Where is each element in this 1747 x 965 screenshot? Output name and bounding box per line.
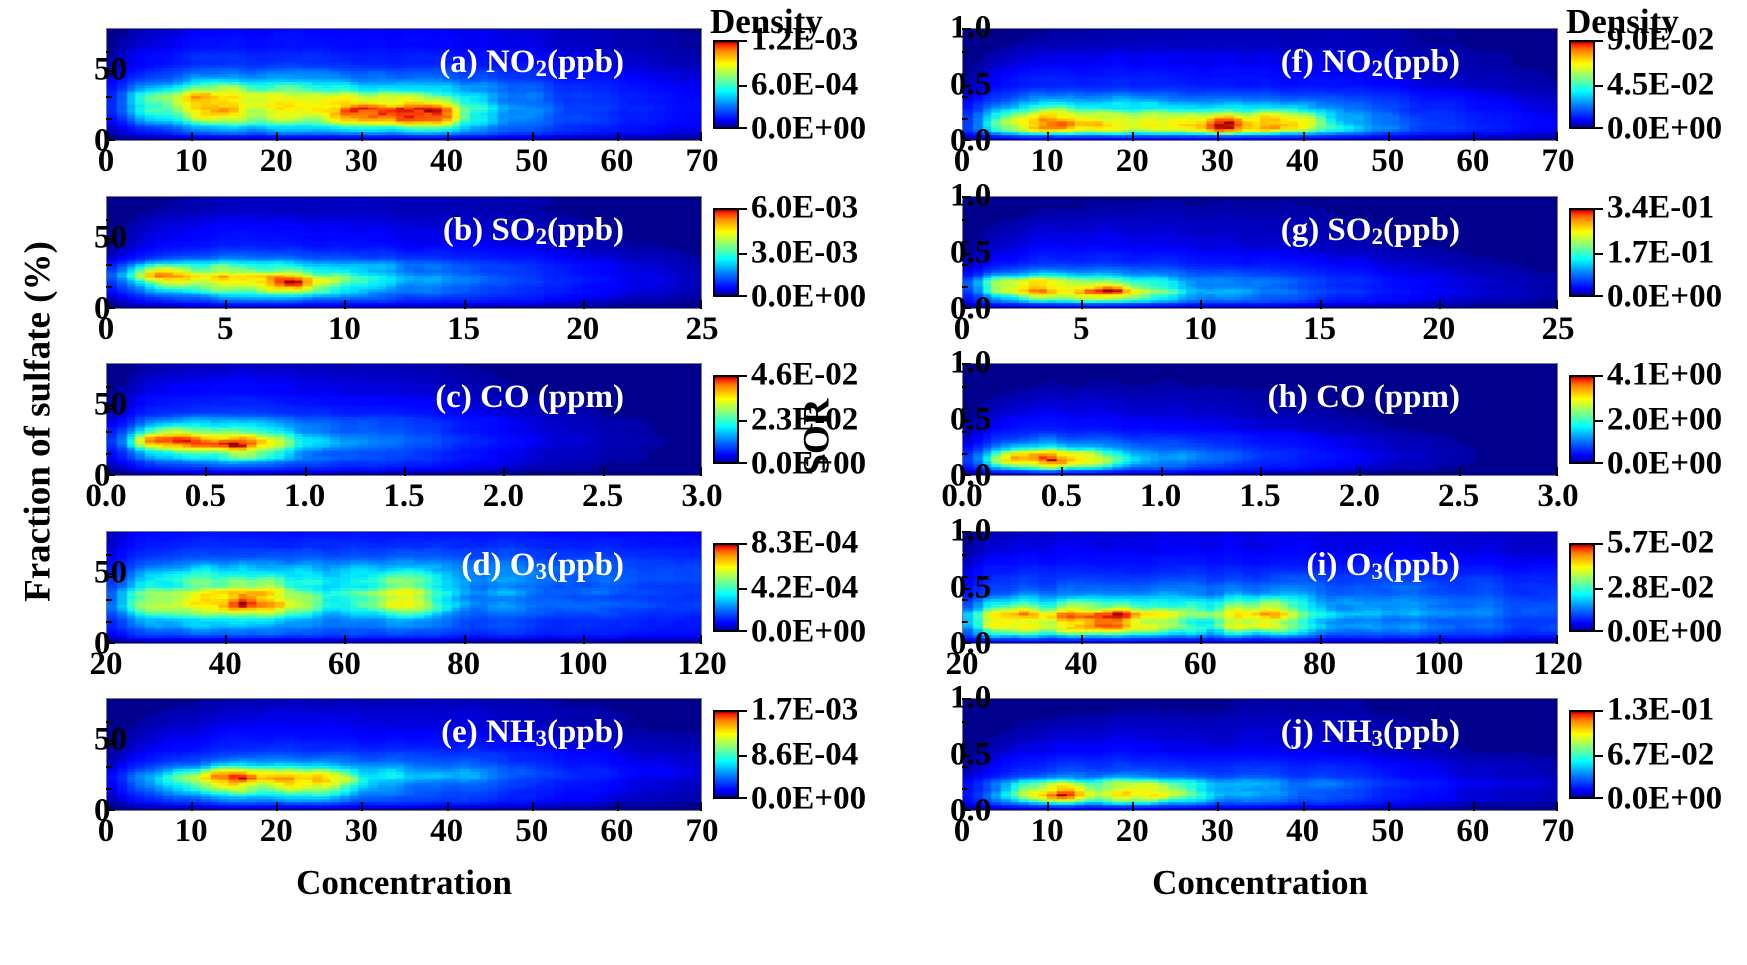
x-tick-label: 2.0: [483, 478, 524, 515]
x-tick: [603, 467, 605, 476]
colorbar-tick-label: 1.3E-01: [1607, 692, 1714, 729]
colorbar-tick: [1595, 127, 1603, 129]
x-tick-label: 80: [447, 646, 480, 683]
x-axis-label-right: Concentration: [962, 863, 1558, 903]
x-tick: [344, 635, 346, 644]
y-minor-tick: [962, 386, 968, 388]
x-tick-label: 3.0: [1537, 478, 1578, 515]
colorbar-tick-label: 4.6E-02: [751, 357, 858, 394]
colorbar-tick: [1595, 543, 1603, 545]
panel-a: (a) NO2(ppb)010203040506070050: [106, 28, 702, 141]
colorbar-tick-label: 4.1E+00: [1607, 357, 1722, 394]
x-tick-label: 20: [1116, 813, 1149, 850]
x-tick: [1061, 467, 1063, 476]
x-tick-label: 40: [209, 646, 242, 683]
x-tick: [1388, 802, 1390, 811]
x-tick-label: 70: [686, 813, 719, 850]
x-tick: [464, 300, 466, 309]
y-minor-tick: [962, 721, 968, 723]
y-minor-tick: [106, 219, 112, 221]
x-tick: [344, 300, 346, 309]
y-minor-tick: [962, 118, 968, 120]
x-tick-label: 20: [260, 813, 293, 850]
x-tick: [1081, 635, 1083, 644]
x-tick: [1217, 802, 1219, 811]
x-tick: [503, 467, 505, 476]
x-tick-label: 20: [260, 143, 293, 180]
x-tick-label: 10: [328, 311, 361, 348]
x-tick-label: 70: [686, 143, 719, 180]
x-tick-label: 5: [217, 311, 234, 348]
x-tick: [1556, 132, 1558, 141]
colorbar-tick-label: 2.3E-02: [751, 401, 858, 438]
heatmap-plot-area: [962, 698, 1558, 811]
colorbar-g: 0.0E+001.7E-013.4E-01: [1569, 208, 1595, 297]
x-tick: [1388, 132, 1390, 141]
x-tick: [1047, 802, 1049, 811]
x-tick: [1556, 635, 1558, 644]
panel-label-a: (a) NO2(ppb): [439, 44, 624, 82]
x-tick: [1303, 802, 1305, 811]
x-tick-label: 50: [1371, 143, 1404, 180]
panel-label-b: (b) SO2(ppb): [443, 212, 624, 250]
x-tick-label: 20: [1116, 143, 1149, 180]
x-tick: [191, 132, 193, 141]
x-tick: [700, 467, 702, 476]
x-tick-label: 10: [1031, 813, 1064, 850]
x-tick-label: 10: [1031, 143, 1064, 180]
x-tick-label: 60: [600, 813, 633, 850]
colorbar-tick: [739, 127, 747, 129]
x-tick-label: 1.0: [1140, 478, 1181, 515]
x-tick: [1132, 802, 1134, 811]
colorbar-tick-label: 0.0E+00: [751, 446, 866, 483]
colorbar-tick: [1595, 755, 1603, 757]
colorbar-tick-label: 1.7E-01: [1607, 234, 1714, 271]
x-tick-label: 5: [1073, 311, 1090, 348]
panel-label-e: (e) NH3(ppb): [441, 714, 624, 752]
x-tick-label: 1.5: [383, 478, 424, 515]
colorbar-tick-label: 6.0E-03: [751, 190, 858, 227]
x-tick: [191, 802, 193, 811]
y-minor-tick: [106, 431, 112, 433]
colorbar-tick: [1595, 462, 1603, 464]
colorbar-tick: [739, 797, 747, 799]
colorbar-gradient: [1569, 40, 1595, 129]
panel-label-c: (c) CO (ppm): [435, 379, 624, 416]
x-tick-label: 10: [175, 143, 208, 180]
colorbar-tick-label: 0.0E+00: [1607, 614, 1722, 651]
x-tick: [361, 132, 363, 141]
x-tick-label: 120: [1533, 646, 1583, 683]
colorbar-a: 0.0E+006.0E-041.2E-03: [713, 40, 739, 129]
x-tick: [1200, 635, 1202, 644]
x-tick: [583, 635, 585, 644]
x-tick-label: 3.0: [681, 478, 722, 515]
y-minor-tick: [962, 73, 968, 75]
y-minor-tick: [106, 51, 112, 53]
panel-label-i: (i) O3(ppb): [1306, 547, 1460, 585]
colorbar-tick: [739, 630, 747, 632]
colorbar-e: 0.0E+008.6E-041.7E-03: [713, 710, 739, 799]
x-tick: [1473, 802, 1475, 811]
colorbar-tick: [1595, 420, 1603, 422]
colorbar-tick: [739, 543, 747, 545]
y-minor-tick: [962, 766, 968, 768]
panel-label-h: (h) CO (ppm): [1267, 379, 1460, 416]
x-tick-label: 1.0: [284, 478, 325, 515]
x-tick: [1161, 467, 1163, 476]
colorbar-tick: [739, 420, 747, 422]
x-tick-label: 80: [1303, 646, 1336, 683]
y-minor-tick: [962, 219, 968, 221]
x-tick: [1320, 300, 1322, 309]
y-minor-tick: [962, 576, 968, 578]
x-tick-label: 15: [447, 311, 480, 348]
x-tick: [225, 300, 227, 309]
x-tick: [532, 132, 534, 141]
colorbar-gradient: [1569, 375, 1595, 464]
colorbar-gradient: [713, 208, 739, 297]
y-minor-tick: [962, 743, 968, 745]
colorbar-tick: [1595, 630, 1603, 632]
x-tick-label: 50: [1371, 813, 1404, 850]
panel-e: (e) NH3(ppb)010203040506070050: [106, 698, 702, 811]
x-tick: [1556, 802, 1558, 811]
colorbar-tick: [1595, 85, 1603, 87]
x-tick-label: 50: [515, 813, 548, 850]
y-minor-tick: [962, 408, 968, 410]
x-tick-label: 100: [1414, 646, 1464, 683]
y-minor-tick: [106, 788, 112, 790]
colorbar-f: 0.0E+004.5E-029.0E-02: [1569, 40, 1595, 129]
y-minor-tick: [962, 599, 968, 601]
x-tick-label: 30: [345, 813, 378, 850]
x-tick-label: 40: [430, 143, 463, 180]
colorbar-tick: [739, 375, 747, 377]
x-tick: [1556, 467, 1558, 476]
y-minor-tick: [962, 96, 968, 98]
y-axis-label-left: Fraction of sulfate (%): [17, 92, 60, 752]
x-tick-label: 20: [566, 311, 599, 348]
y-minor-tick: [106, 576, 112, 578]
x-tick-label: 60: [1456, 143, 1489, 180]
colorbar-tick-label: 3.0E-03: [751, 234, 858, 271]
colorbar-title: Density: [710, 2, 823, 42]
y-minor-tick: [962, 453, 968, 455]
heatmap-plot-area: [962, 196, 1558, 309]
x-tick-label: 70: [1542, 143, 1575, 180]
y-minor-tick: [962, 554, 968, 556]
y-minor-tick: [106, 386, 112, 388]
x-tick: [276, 132, 278, 141]
x-tick: [617, 132, 619, 141]
x-tick-label: 40: [1286, 143, 1319, 180]
x-tick-label: 70: [1542, 813, 1575, 850]
panel-g: (g) SO2(ppb)05101520250.00.51.0: [962, 196, 1558, 309]
x-tick: [1260, 467, 1262, 476]
colorbar-title: Density: [1566, 2, 1679, 42]
x-tick: [617, 802, 619, 811]
panel-label-g: (g) SO2(ppb): [1281, 212, 1460, 250]
x-tick-label: 2.5: [582, 478, 623, 515]
y-minor-tick: [962, 286, 968, 288]
colorbar-tick-label: 0.0E+00: [751, 111, 866, 148]
colorbar-tick: [1595, 253, 1603, 255]
colorbar-tick-label: 6.7E-02: [1607, 736, 1714, 773]
y-minor-tick: [962, 431, 968, 433]
colorbar-tick: [1595, 208, 1603, 210]
colorbar-tick-label: 0.0E+00: [1607, 111, 1722, 148]
x-tick-label: 50: [515, 143, 548, 180]
x-tick-label: 60: [600, 143, 633, 180]
colorbar-tick: [739, 755, 747, 757]
x-tick: [532, 802, 534, 811]
panel-c: (c) CO (ppm)0.00.51.01.52.02.53.0050: [106, 363, 702, 476]
x-tick-label: 0.5: [1041, 478, 1082, 515]
colorbar-tick-label: 0.0E+00: [751, 781, 866, 818]
colorbar-tick-label: 0.0E+00: [1607, 446, 1722, 483]
colorbar-tick: [1595, 797, 1603, 799]
x-tick: [305, 467, 307, 476]
colorbar-gradient: [1569, 710, 1595, 799]
y-minor-tick: [962, 788, 968, 790]
colorbar-tick: [1595, 588, 1603, 590]
y-minor-tick: [106, 453, 112, 455]
x-tick: [1217, 132, 1219, 141]
x-tick: [700, 802, 702, 811]
x-tick: [1359, 467, 1361, 476]
x-tick: [1200, 300, 1202, 309]
x-tick-label: 2.0: [1339, 478, 1380, 515]
y-minor-tick: [106, 241, 112, 243]
x-tick-label: 25: [686, 311, 719, 348]
x-tick: [447, 132, 449, 141]
x-axis-label-left: Concentration: [106, 863, 702, 903]
y-minor-tick: [106, 621, 112, 623]
x-tick-label: 60: [1456, 813, 1489, 850]
heatmap-plot-area: [962, 363, 1558, 476]
panel-d: (d) O3(ppb)20406080100120050: [106, 531, 702, 644]
x-tick-label: 30: [345, 143, 378, 180]
x-tick-label: 15: [1303, 311, 1336, 348]
panel-j: (j) NH3(ppb)0102030405060700.00.51.0: [962, 698, 1558, 811]
colorbar-gradient: [1569, 543, 1595, 632]
y-minor-tick: [962, 241, 968, 243]
x-tick-label: 40: [1286, 813, 1319, 850]
x-tick-label: 25: [1542, 311, 1575, 348]
colorbar-tick-label: 0.0E+00: [751, 279, 866, 316]
colorbar-tick: [739, 588, 747, 590]
y-minor-tick: [962, 621, 968, 623]
colorbar-tick-label: 2.8E-02: [1607, 569, 1714, 606]
colorbar-tick: [739, 85, 747, 87]
colorbar-h: 0.0E+002.0E+004.1E+00: [1569, 375, 1595, 464]
panel-b: (b) SO2(ppb)0510152025050: [106, 196, 702, 309]
colorbar-tick: [1595, 375, 1603, 377]
colorbar-tick-label: 2.0E+00: [1607, 401, 1722, 438]
x-tick-label: 10: [175, 813, 208, 850]
x-tick: [276, 802, 278, 811]
x-tick: [1081, 300, 1083, 309]
x-tick-label: 40: [430, 813, 463, 850]
y-minor-tick: [106, 286, 112, 288]
x-tick-label: 100: [558, 646, 608, 683]
colorbar-gradient: [713, 543, 739, 632]
colorbar-tick-label: 8.6E-04: [751, 736, 858, 773]
y-minor-tick: [106, 766, 112, 768]
x-tick: [700, 635, 702, 644]
colorbar-tick: [739, 208, 747, 210]
x-tick: [1320, 635, 1322, 644]
panel-label-f: (f) NO2(ppb): [1281, 44, 1460, 82]
y-minor-tick: [962, 51, 968, 53]
y-minor-tick: [106, 264, 112, 266]
colorbar-tick-label: 4.2E-04: [751, 569, 858, 606]
x-tick: [1047, 132, 1049, 141]
x-tick: [225, 635, 227, 644]
x-tick: [205, 467, 207, 476]
colorbar-tick-label: 0.0E+00: [1607, 279, 1722, 316]
x-tick-label: 20: [1422, 311, 1455, 348]
figure-canvas: Fraction of sulfate (%) SOR Concentratio…: [0, 0, 1747, 965]
colorbar-tick-label: 5.7E-02: [1607, 525, 1714, 562]
panel-label-d: (d) O3(ppb): [461, 547, 624, 585]
colorbar-b: 0.0E+003.0E-036.0E-03: [713, 208, 739, 297]
colorbar-gradient: [713, 710, 739, 799]
colorbar-tick-label: 6.0E-04: [751, 66, 858, 103]
colorbar-tick: [1595, 295, 1603, 297]
x-tick-label: 0.5: [185, 478, 226, 515]
x-tick: [1132, 132, 1134, 141]
colorbar-i: 0.0E+002.8E-025.7E-02: [1569, 543, 1595, 632]
x-tick: [361, 802, 363, 811]
colorbar-gradient: [713, 40, 739, 129]
colorbar-j: 0.0E+006.7E-021.3E-01: [1569, 710, 1595, 799]
x-tick: [700, 300, 702, 309]
colorbar-tick-label: 0.0E+00: [751, 614, 866, 651]
x-tick: [583, 300, 585, 309]
x-tick-label: 30: [1201, 813, 1234, 850]
colorbar-tick: [739, 295, 747, 297]
x-tick-label: 30: [1201, 143, 1234, 180]
colorbar-tick-label: 0.0E+00: [1607, 781, 1722, 818]
y-minor-tick: [106, 96, 112, 98]
colorbar-tick-label: 4.5E-02: [1607, 66, 1714, 103]
x-tick: [1459, 467, 1461, 476]
colorbar-tick: [1595, 710, 1603, 712]
x-tick-label: 60: [328, 646, 361, 683]
x-tick: [1473, 132, 1475, 141]
y-minor-tick: [962, 264, 968, 266]
colorbar-d: 0.0E+004.2E-048.3E-04: [713, 543, 739, 632]
x-tick-label: 1.5: [1239, 478, 1280, 515]
x-tick-label: 120: [677, 646, 727, 683]
x-tick: [1303, 132, 1305, 141]
panel-label-j: (j) NH3(ppb): [1281, 714, 1460, 752]
x-tick-label: 10: [1184, 311, 1217, 348]
x-tick: [700, 132, 702, 141]
x-tick: [1556, 300, 1558, 309]
panel-h: (h) CO (ppm)0.00.51.01.52.02.53.00.00.51…: [962, 363, 1558, 476]
colorbar-tick: [739, 462, 747, 464]
x-tick-label: 40: [1065, 646, 1098, 683]
colorbar-tick-label: 1.7E-03: [751, 692, 858, 729]
panel-i: (i) O3(ppb)204060801001200.00.51.0: [962, 531, 1558, 644]
colorbar-tick: [739, 710, 747, 712]
y-minor-tick: [106, 599, 112, 601]
colorbar-tick: [739, 253, 747, 255]
y-minor-tick: [106, 743, 112, 745]
x-tick: [404, 467, 406, 476]
y-minor-tick: [106, 721, 112, 723]
heatmap-plot-area: [962, 28, 1558, 141]
y-minor-tick: [106, 554, 112, 556]
colorbar-gradient: [713, 375, 739, 464]
x-tick-label: 2.5: [1438, 478, 1479, 515]
colorbar-tick-label: 8.3E-04: [751, 525, 858, 562]
colorbar-gradient: [1569, 208, 1595, 297]
x-tick: [447, 802, 449, 811]
y-minor-tick: [106, 408, 112, 410]
panel-f: (f) NO2(ppb)0102030405060700.00.51.0: [962, 28, 1558, 141]
x-tick: [1439, 635, 1441, 644]
colorbar-c: 0.0E+002.3E-024.6E-02: [713, 375, 739, 464]
y-minor-tick: [106, 73, 112, 75]
y-minor-tick: [106, 118, 112, 120]
x-tick: [464, 635, 466, 644]
x-tick-label: 60: [1184, 646, 1217, 683]
x-tick: [1439, 300, 1441, 309]
colorbar-tick-label: 3.4E-01: [1607, 190, 1714, 227]
heatmap-plot-area: [962, 531, 1558, 644]
